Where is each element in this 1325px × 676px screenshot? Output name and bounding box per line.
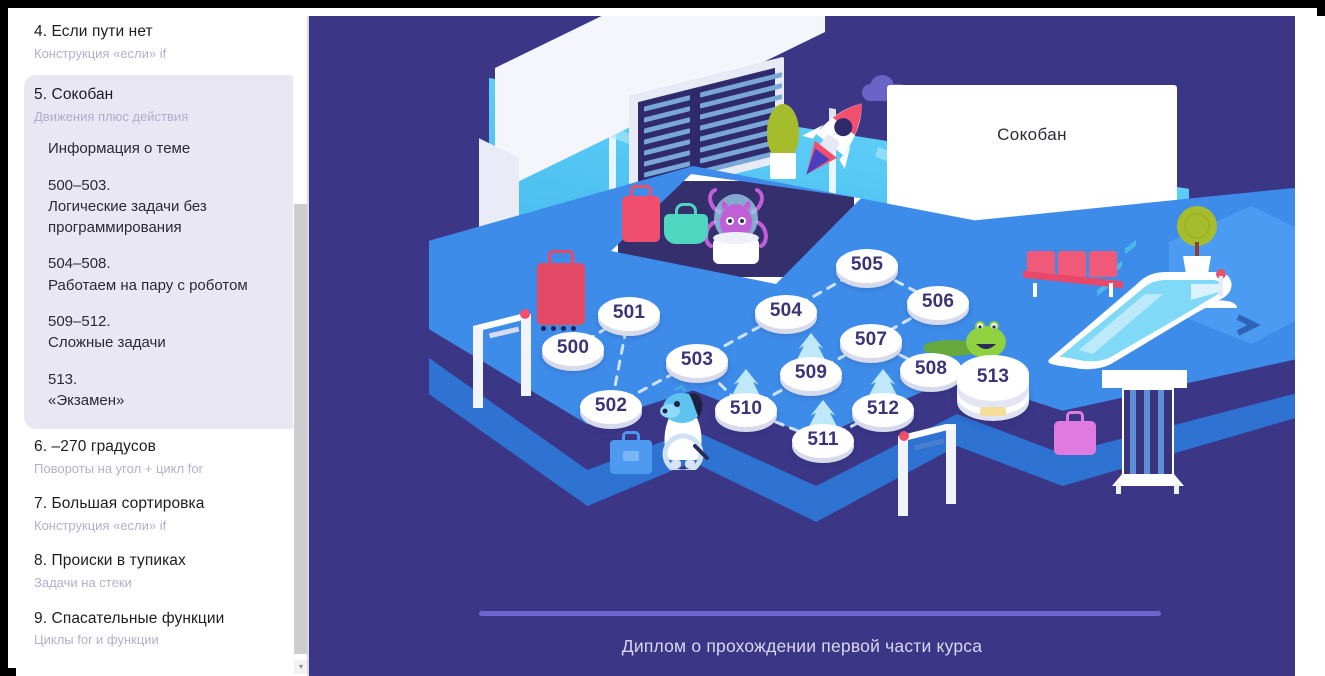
level-node-label: 513 xyxy=(957,355,1029,401)
lesson-title: 4. Если пути нет xyxy=(34,22,295,43)
lesson-subtitle: Задачи на стеки xyxy=(34,574,295,592)
page-title: Сокобан xyxy=(887,125,1177,145)
title-panel: Сокобан xyxy=(887,85,1177,211)
level-node-label: 503 xyxy=(666,344,728,378)
lesson-title: 8. Происки в тупиках xyxy=(34,551,295,572)
page-root: 4. Если пути нет Конструкция «если» if 5… xyxy=(16,16,1325,676)
sub-item-desc: «Экзамен» xyxy=(48,390,291,411)
seat-leg xyxy=(1033,283,1037,297)
airport-seats xyxy=(1027,251,1127,291)
dog-character xyxy=(649,384,715,475)
level-node-label: 512 xyxy=(852,393,914,427)
sub-item-513[interactable]: 513. «Экзамен» xyxy=(48,369,291,412)
lesson-sub-items: Информация о теме 500–503. Логические за… xyxy=(34,138,291,411)
level-node-513[interactable]: 513 xyxy=(957,355,1029,401)
level-node-511[interactable]: 511 xyxy=(792,424,854,458)
lesson-subtitle: Движения плюс действия xyxy=(34,108,291,126)
sub-item-desc: Сложные задачи xyxy=(48,332,291,353)
lesson-subtitle: Повороты на угол + цикл for xyxy=(34,460,295,478)
sub-item-desc: Логические задачи без программирования xyxy=(48,196,291,239)
sub-item-desc: Работаем на пару с роботом xyxy=(48,275,291,296)
course-sidebar[interactable]: 4. Если пути нет Конструкция «если» if 5… xyxy=(16,16,309,676)
level-node-label: 511 xyxy=(792,424,854,458)
level-node-label: 507 xyxy=(840,324,902,358)
level-node-500[interactable]: 500 xyxy=(542,332,604,366)
sidebar-item-lesson-4[interactable]: 4. Если пути нет Конструкция «если» if xyxy=(16,16,309,73)
sidebar-item-lesson-6[interactable]: 6. –270 градусов Повороты на угол + цикл… xyxy=(16,431,309,488)
alien-character xyxy=(701,188,771,273)
sub-item-500-503[interactable]: 500–503. Логические задачи без программи… xyxy=(48,175,291,239)
level-node-label: 508 xyxy=(900,353,962,387)
level-node-504[interactable]: 504 xyxy=(755,295,817,329)
level-node-label: 505 xyxy=(836,249,898,283)
exam-badge xyxy=(980,407,1006,416)
level-node-507[interactable]: 507 xyxy=(840,324,902,358)
lesson-title: 5. Сокобан xyxy=(34,85,291,106)
sub-item-info[interactable]: Информация о теме xyxy=(48,138,291,159)
sub-item-range: 509–512. xyxy=(48,311,291,332)
briefcase-icon xyxy=(610,440,652,474)
seat-leg xyxy=(1109,283,1113,297)
level-node-label: 509 xyxy=(780,357,842,391)
lesson-subtitle: Циклы for и функции xyxy=(34,631,295,649)
suitcase-pink xyxy=(1054,421,1096,455)
level-node-501[interactable]: 501 xyxy=(598,297,660,331)
page-right-margin xyxy=(1295,16,1325,676)
lesson-map-illustration: Сокобан xyxy=(309,16,1295,676)
section-divider xyxy=(479,611,1161,616)
scrollbar-thumb[interactable] xyxy=(294,204,308,654)
level-node-label: 502 xyxy=(580,390,642,424)
level-node-label: 504 xyxy=(755,295,817,329)
scroll-down-arrow-icon[interactable]: ▾ xyxy=(294,660,308,674)
lesson-subtitle: Конструкция «если» if xyxy=(34,45,295,63)
sidebar-item-lesson-7[interactable]: 7. Большая сортировка Конструкция «если»… xyxy=(16,488,309,545)
level-node-label: 506 xyxy=(907,286,969,320)
suitcase-red xyxy=(622,196,660,242)
screenshot-frame: 4. Если пути нет Конструкция «если» if 5… xyxy=(0,0,1325,676)
level-node-505[interactable]: 505 xyxy=(836,249,898,283)
level-node-label: 501 xyxy=(598,297,660,331)
bag-teal xyxy=(664,214,708,244)
potted-plant-foliage xyxy=(767,104,799,160)
lesson-title: 9. Спасательные функции xyxy=(34,609,295,630)
sub-item-504-508[interactable]: 504–508. Работаем на пару с роботом xyxy=(48,253,291,296)
suitcase-red xyxy=(537,263,585,325)
sub-item-range: 500–503. xyxy=(48,175,291,196)
baggage-belt xyxy=(1092,364,1197,494)
metal-detector-gate xyxy=(894,414,964,529)
sidebar-item-lesson-8[interactable]: 8. Происки в тупиках Задачи на стеки xyxy=(16,545,309,602)
lesson-title: 6. –270 градусов xyxy=(34,437,295,458)
level-node-510[interactable]: 510 xyxy=(715,393,777,427)
lesson-title: 7. Большая сортировка xyxy=(34,494,295,515)
level-node-508[interactable]: 508 xyxy=(900,353,962,387)
sub-item-509-512[interactable]: 509–512. Сложные задачи xyxy=(48,311,291,354)
sub-item-range: 504–508. xyxy=(48,253,291,274)
level-node-512[interactable]: 512 xyxy=(852,393,914,427)
diploma-caption: Диплом о прохождении первой части курса xyxy=(309,636,1295,657)
seat xyxy=(1058,251,1086,277)
level-node-509[interactable]: 509 xyxy=(780,357,842,391)
sub-item-range: 513. xyxy=(48,369,291,390)
potted-tree xyxy=(1175,204,1219,281)
potted-plant-pot xyxy=(770,153,796,179)
metal-detector-gate xyxy=(469,306,539,421)
level-node-506[interactable]: 506 xyxy=(907,286,969,320)
level-node-502[interactable]: 502 xyxy=(580,390,642,424)
seat xyxy=(1089,251,1117,277)
level-node-503[interactable]: 503 xyxy=(666,344,728,378)
direction-arrow-icon xyxy=(1234,311,1274,342)
level-node-label: 500 xyxy=(542,332,604,366)
sidebar-item-lesson-9[interactable]: 9. Спасательные функции Циклы for и функ… xyxy=(16,603,309,660)
lesson-subtitle: Конструкция «если» if xyxy=(34,517,295,535)
sidebar-item-lesson-5[interactable]: 5. Сокобан Движения плюс действия Информ… xyxy=(24,75,301,429)
level-node-label: 510 xyxy=(715,393,777,427)
